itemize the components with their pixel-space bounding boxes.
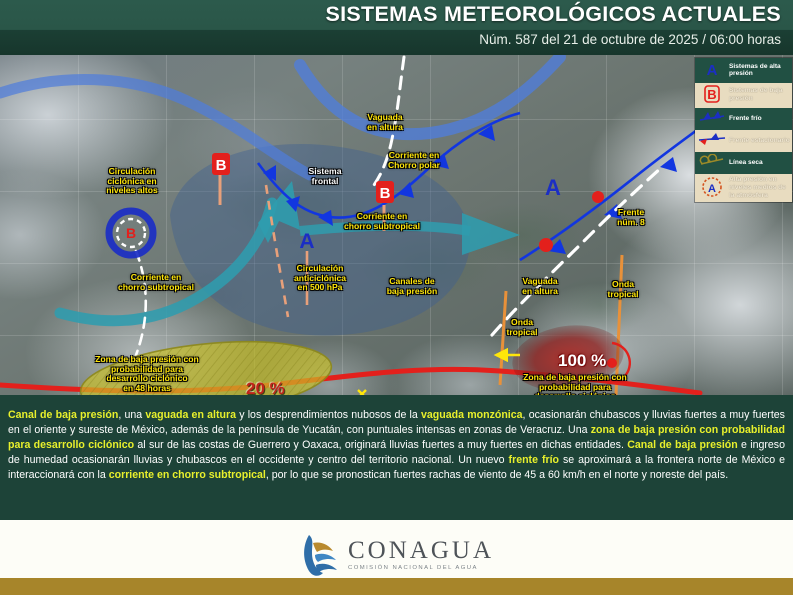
upper-level-trough-dashed-se xyxy=(492,167,662,335)
footer-gold-bar xyxy=(0,578,793,595)
legend-box[interactable]: A Sistemas de alta presión B Sistemas de… xyxy=(694,57,793,203)
legend-item-low-pressure[interactable]: B Sistemas de baja presión xyxy=(695,83,792,108)
high-pressure-marker-east: A xyxy=(545,175,561,200)
forecast-highlight: corriente en chorro subtropical xyxy=(109,469,266,481)
legend-label-stationary-front: Frente estacionario xyxy=(727,137,790,145)
header-bar: SISTEMAS METEOROLÓGICOS ACTUALES Núm. 58… xyxy=(0,0,793,55)
svg-text:B: B xyxy=(216,157,227,174)
logo-subtitle: COMISIÓN NACIONAL DEL AGUA xyxy=(348,566,494,572)
forecast-paragraph: Canal de baja presión, una vaguada en al… xyxy=(8,408,785,483)
svg-text:A: A xyxy=(707,62,718,78)
letter-a-blue-icon: A xyxy=(697,60,727,81)
legend-label-dry-line: Línea seca xyxy=(727,159,790,167)
legend-label-mid-level-high: Alta presión en niveles medios de la atm… xyxy=(727,176,790,199)
legend-label-high-pressure: Sistemas de alta presión xyxy=(727,63,790,79)
upper-level-trough-dashed-west xyxy=(136,251,146,355)
svg-text:A: A xyxy=(545,175,561,200)
legend-label-cold-front: Frente frío xyxy=(727,115,790,123)
bulletin-date-subtitle: Núm. 587 del 21 de octubre de 2025 / 06:… xyxy=(479,32,781,47)
polar-jet-stream xyxy=(0,57,560,175)
legend-item-dry-line[interactable]: Línea seca xyxy=(695,152,792,174)
legend-item-stationary-front[interactable]: Frente estacionario xyxy=(695,130,792,152)
legend-item-high-pressure[interactable]: A Sistemas de alta presión xyxy=(695,58,792,83)
svg-text:B: B xyxy=(126,225,136,241)
conagua-eagle-water-icon xyxy=(299,531,341,579)
cold-front-icon xyxy=(697,110,727,127)
weather-bulletin-page: SISTEMAS METEOROLÓGICOS ACTUALES Núm. 58… xyxy=(0,0,793,595)
stationary-front-icon xyxy=(697,132,727,149)
forecast-highlight: Canal de baja presión xyxy=(627,439,738,451)
letter-b-red-icon: B xyxy=(697,85,727,106)
forecast-text-block: Canal de baja presión, una vaguada en al… xyxy=(0,398,793,520)
forecast-highlight: vaguada monzónica xyxy=(421,409,523,421)
forecast-highlight: frente frío xyxy=(509,454,559,466)
svg-text:A: A xyxy=(708,183,716,195)
svg-text:A: A xyxy=(299,230,314,253)
mid-level-high-icon: A xyxy=(697,176,727,201)
cyclone-development-zone-20[interactable] xyxy=(77,331,366,395)
legend-item-mid-level-high[interactable]: A Alta presión en niveles medios de la a… xyxy=(695,174,792,203)
svg-text:B: B xyxy=(380,185,391,202)
legend-item-cold-front[interactable]: Frente frío xyxy=(695,108,792,130)
page-title: SISTEMAS METEOROLÓGICOS ACTUALES xyxy=(325,2,781,27)
logo-name: CONAGUA xyxy=(348,538,494,563)
forecast-highlight: vaguada en altura xyxy=(145,409,236,421)
satellite-weather-map[interactable]: B B B A A xyxy=(0,55,793,395)
cyclonic-circulation-upper-levels-symbol: B xyxy=(109,211,153,255)
legend-label-low-pressure: Sistemas de baja presión xyxy=(727,87,790,103)
dry-line-icon xyxy=(697,154,727,171)
weather-systems-overlay: B B B A A xyxy=(0,55,793,395)
forecast-highlight: Canal de baja presión xyxy=(8,409,118,421)
conagua-logo: CONAGUA COMISIÓN NACIONAL DEL AGUA xyxy=(299,531,494,579)
svg-text:B: B xyxy=(707,87,716,102)
